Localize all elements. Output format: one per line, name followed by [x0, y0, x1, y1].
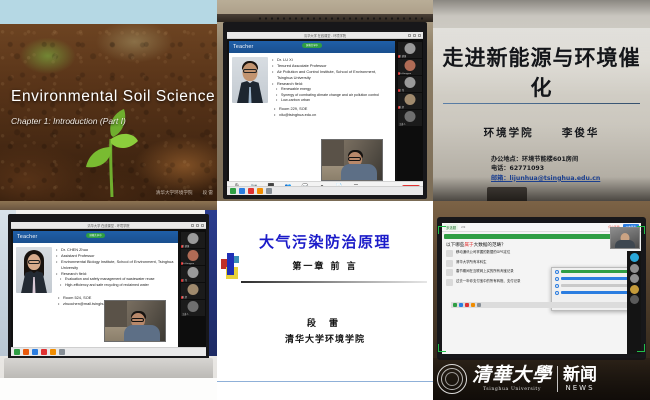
- option-text: 春节期间在互联网上买的所有淘宝记录: [456, 269, 514, 274]
- taskbar-icon[interactable]: [465, 303, 469, 307]
- participant-name: 主讲人: [182, 312, 189, 316]
- avatar: [188, 233, 199, 244]
- radio-icon[interactable]: [555, 284, 559, 288]
- panel-soil-science-slide: Environmental Soil Science Chapter 1: In…: [0, 0, 217, 201]
- radio-icon[interactable]: [555, 270, 559, 274]
- maximize-icon[interactable]: [413, 34, 416, 37]
- board-author-name: 李俊华: [562, 127, 600, 139]
- slide-body: Dr. LU Xi Tenured Associate Professor Ai…: [229, 53, 395, 106]
- contact-email: xilu@tsinghua.edu.cn: [274, 112, 392, 118]
- taskbar-icon[interactable]: [23, 349, 29, 355]
- avatar[interactable]: [630, 264, 639, 273]
- taskbar-icon[interactable]: [248, 188, 254, 194]
- avatar: [188, 267, 199, 278]
- participant-name: 陈 超: [399, 105, 404, 109]
- participant-tile[interactable]: Xu Hongyan: [398, 59, 422, 75]
- taskbar-icon[interactable]: [59, 349, 65, 355]
- slide-footer: 清华大学环境学院 段 雷: [156, 190, 213, 196]
- participants-panel[interactable]: 刘 建国 Xu Hongyan 王 伟: [397, 39, 423, 195]
- taskbar-icon[interactable]: [239, 188, 245, 194]
- minimize-icon[interactable]: [408, 34, 411, 37]
- shared-slide: Teacher 屏幕共享中 Dr. CHEN: [13, 231, 178, 354]
- panel-air-pollution-slide: 大气污染防治原理 第一章 前 言 段 雷 清华大学环境学院: [217, 201, 433, 400]
- avatar[interactable]: [630, 274, 639, 283]
- avatar: [188, 301, 199, 312]
- option-key-d[interactable]: [446, 279, 453, 286]
- result-row: [552, 268, 636, 275]
- radio-icon[interactable]: [555, 277, 559, 281]
- portrait-glasses: [28, 260, 40, 264]
- close-icon[interactable]: [201, 224, 204, 227]
- slide-author-name: 段 雷: [217, 316, 433, 329]
- laptop-keyboard: [4, 358, 213, 380]
- board-author: 环境学院 李俊华: [433, 125, 650, 140]
- slide-header-text: Teacher: [233, 44, 254, 50]
- board-title: 走进新能源与环境催化: [433, 42, 650, 102]
- watermark-news-cn: 新闻: [563, 367, 597, 384]
- footer-org: 清华大学环境学院: [156, 190, 193, 196]
- watermark-en: Tsinghua University: [483, 387, 541, 392]
- result-row: [552, 282, 636, 289]
- close-icon[interactable]: [418, 34, 421, 37]
- slide-bottom-line: [217, 381, 433, 382]
- teacher-portrait: [16, 247, 52, 293]
- participant-tile[interactable]: 王 伟: [398, 76, 422, 92]
- avatar: [188, 284, 199, 295]
- sky-band: [0, 0, 217, 24]
- participants-panel[interactable]: 刘 建国 Xu Hongyan 王 伟: [180, 229, 206, 356]
- result-row: [552, 289, 636, 296]
- speaker-body: [124, 325, 160, 341]
- participant-name: 刘 建国: [182, 244, 189, 248]
- taskbar-icon[interactable]: [459, 303, 463, 307]
- os-taskbar[interactable]: [11, 347, 206, 356]
- question-highlight: 属于: [464, 243, 473, 248]
- participant-name: 王 伟: [399, 88, 404, 92]
- ceiling-dots: [257, 17, 425, 20]
- screen-share-badge: 屏幕共享中: [302, 43, 322, 48]
- screen-share-marker: [438, 344, 446, 352]
- option-key-a[interactable]: [446, 250, 453, 257]
- participant-tile[interactable]: 刘 建国: [398, 42, 422, 58]
- window-title: 清华大学 在线课堂 - 环境学院: [88, 223, 130, 228]
- avatar[interactable]: [630, 285, 639, 294]
- teacher-contact: Room 229, SOE xilu@tsinghua.edu.cn: [229, 106, 395, 118]
- participant-tile[interactable]: Xu Hongyan: [181, 249, 205, 265]
- panel-zoom-lecture-lu-xi: 清华大学 在线课堂 - 环境学院 Teacher 屏幕共享中: [217, 0, 433, 201]
- taskbar-icon[interactable]: [32, 349, 38, 355]
- panel-zoom-lecture-chen-zhuo: 清华大学 在线课堂 - 环境学院 Teacher 屏幕共享中: [0, 201, 217, 400]
- window-title: 清华大学 在线课堂 - 环境学院: [304, 33, 346, 38]
- zoom-stage: Teacher 屏幕共享中 Dr. CHEN: [11, 229, 206, 356]
- option-text: 清华大学所有本科生: [456, 260, 487, 265]
- screenshot-collage: Environmental Soil Science Chapter 1: In…: [0, 0, 650, 400]
- quiz-option[interactable]: 清华大学所有本科生: [446, 260, 637, 267]
- news-wordmark: 新闻 NEWS: [563, 367, 597, 392]
- quiz-type-badge: 多选题: [444, 224, 458, 230]
- participant-tile[interactable]: 主讲人: [181, 300, 205, 316]
- slide-divider: [241, 281, 427, 283]
- speaker-body: [341, 164, 377, 180]
- quiz-question: 以下哪些属于大数据的范畴？: [446, 242, 637, 248]
- avatar: [188, 250, 199, 261]
- option-text: 过去一年你支付宝中的所有转账、支付记录: [456, 279, 520, 284]
- taskbar-icon[interactable]: [453, 303, 457, 307]
- board-author-org: 环境学院: [484, 127, 534, 139]
- bio-subbullet: High-efficiency and safe recycling of re…: [60, 283, 175, 289]
- watermark-divider: [557, 366, 558, 392]
- speaker-body: [615, 240, 635, 248]
- taskbar-icon[interactable]: [14, 349, 20, 355]
- window-controls[interactable]: [191, 224, 204, 227]
- panel-online-quiz-monitor: 多选题 2/3 停止答题 公布答案 以下哪些属于大数据的范畴？ 移动通讯公司掌握…: [433, 201, 650, 400]
- avatar: [405, 43, 416, 54]
- participant-name: Xu Hongyan: [399, 73, 411, 75]
- wooden-shelf: [0, 201, 217, 210]
- participant-tile[interactable]: 主讲人: [398, 110, 422, 126]
- speaker-video-tile[interactable]: [104, 300, 166, 342]
- slide-header-text: Teacher: [17, 234, 38, 240]
- slide-author-org: 清华大学环境学院: [217, 332, 433, 345]
- teacher-bio: Dr. CHEN Zhuo Assistant Professor Enviro…: [56, 247, 175, 293]
- deco-square-blue: [227, 253, 234, 275]
- participant-tile[interactable]: 陈 超: [398, 93, 422, 109]
- bio-bullet: Environmental Biology Institute, School …: [56, 259, 175, 271]
- taskbar-icon[interactable]: [41, 349, 47, 355]
- zoom-stage: Teacher 屏幕共享中 Dr. LU Xi: [227, 39, 423, 195]
- avatar: [405, 77, 416, 88]
- footer-name: 段 雷: [203, 190, 213, 196]
- laptop-screen: 清华大学 在线课堂 - 环境学院 Teacher 屏幕共享中: [11, 222, 206, 356]
- speaker-glasses: [348, 157, 361, 161]
- radio-icon[interactable]: [555, 291, 559, 295]
- taskbar-icon[interactable]: [477, 303, 481, 307]
- avatar[interactable]: [630, 295, 639, 304]
- slide-title: 大气污染防治原理: [217, 231, 433, 252]
- board-office: 办公地点：环境节能楼601房间: [491, 155, 600, 164]
- maximize-icon[interactable]: [196, 224, 199, 227]
- window-titlebar: 清华大学 在线课堂 - 环境学院: [227, 32, 423, 39]
- screen-share-marker: [637, 344, 645, 352]
- watermark-news-en: NEWS: [566, 384, 595, 392]
- bio-subbullet: Low-carbon urban: [276, 98, 392, 104]
- quiz-number: 2/3: [461, 225, 465, 229]
- speaker-video-tile[interactable]: [610, 227, 640, 249]
- taskbar-icon[interactable]: [266, 188, 272, 194]
- portrait-glasses: [243, 69, 257, 73]
- participant-name: Xu Hongyan: [182, 263, 194, 265]
- os-taskbar[interactable]: [451, 302, 632, 308]
- board-email: 邮箱：lijunhua@tsinghua.edu.cn: [491, 174, 600, 183]
- window-controls[interactable]: [408, 34, 421, 37]
- avatar: [405, 60, 416, 71]
- option-key-b[interactable]: [446, 260, 453, 267]
- participant-name: 主讲人: [399, 122, 406, 126]
- podium: [487, 187, 527, 201]
- tsinghua-news-watermark: 清華大學 Tsinghua University 新闻 NEWS: [433, 358, 650, 400]
- participant-tile[interactable]: 刘 建国: [181, 232, 205, 248]
- result-bar: [561, 291, 633, 295]
- result-bar: [561, 284, 633, 288]
- shared-slide: Teacher 屏幕共享中 Dr. LU Xi: [229, 41, 395, 193]
- slide-title: Environmental Soil Science: [11, 88, 215, 106]
- panel-new-energy-catalysis-board: 走进新能源与环境催化 环境学院 李俊华 办公地点：环境节能楼601房间 电话：6…: [433, 0, 650, 201]
- option-text: 移动通讯公司掌握的数据的GPS定位: [456, 250, 510, 255]
- board-divider: [443, 103, 640, 104]
- board-phone: 电话：62771093: [491, 164, 600, 173]
- slide-subtitle: Chapter 1: Introduction (Part I): [11, 116, 126, 126]
- screen-share-marker: [438, 226, 446, 234]
- participant-name: 陈 超: [182, 295, 187, 299]
- quiz-option[interactable]: 移动通讯公司掌握的数据的GPS定位: [446, 250, 637, 257]
- participant-name: 王 伟: [182, 278, 187, 282]
- result-row: [552, 275, 636, 282]
- os-taskbar[interactable]: [227, 186, 423, 195]
- result-bar: [561, 277, 633, 281]
- screen-share-badge: 屏幕共享中: [86, 233, 106, 238]
- tsinghua-seal-icon: [437, 364, 467, 394]
- desk-surface: [0, 378, 217, 400]
- slide-subtitle: 第一章 前 言: [217, 259, 433, 272]
- taskbar-icon[interactable]: [257, 188, 263, 194]
- bio-bullet: Air Pollution and Control Institute, Sch…: [272, 69, 392, 81]
- taskbar-icon[interactable]: [50, 349, 56, 355]
- monitor-screen: 清华大学 在线课堂 - 环境学院 Teacher 屏幕共享中: [227, 32, 423, 195]
- participants-panel[interactable]: [627, 251, 641, 354]
- avatar: [405, 94, 416, 105]
- slide-body: Dr. CHEN Zhuo Assistant Professor Enviro…: [13, 243, 178, 295]
- speaker-glasses: [131, 318, 144, 322]
- watermark-cn: 清華大學: [472, 366, 552, 385]
- avatar: [405, 111, 416, 122]
- board-contact: 办公地点：环境节能楼601房间 电话：62771093 邮箱：lijunhua@…: [491, 155, 600, 183]
- speaker-video-tile[interactable]: [321, 139, 383, 181]
- avatar[interactable]: [630, 253, 639, 262]
- tsinghua-wordmark: 清華大學 Tsinghua University: [472, 366, 552, 392]
- option-key-c[interactable]: [446, 269, 453, 276]
- teacher-bio: Dr. LU Xi Tenured Associate Professor Ai…: [272, 57, 392, 104]
- participant-tile[interactable]: 陈 超: [181, 283, 205, 299]
- result-bar: [561, 270, 633, 274]
- taskbar-icon[interactable]: [471, 303, 475, 307]
- taskbar-icon[interactable]: [230, 188, 236, 194]
- minimize-icon[interactable]: [191, 224, 194, 227]
- participant-name: 刘 建国: [399, 54, 406, 58]
- teacher-portrait: [232, 57, 268, 103]
- screen-share-marker: [637, 226, 645, 234]
- window-titlebar: 清华大学 在线课堂 - 环境学院: [11, 222, 206, 229]
- participant-tile[interactable]: 王 伟: [181, 266, 205, 282]
